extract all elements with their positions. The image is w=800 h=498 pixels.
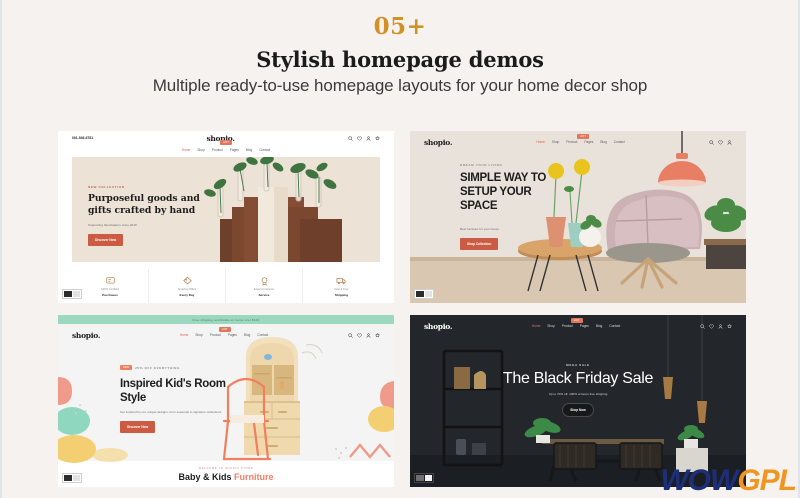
nav-item-product[interactable]: Product (212, 148, 223, 152)
watermark-gpl: GPL (737, 464, 796, 497)
nav-item-blog[interactable]: Blog (246, 148, 252, 152)
demo-1-nav-badge: HOT (220, 140, 232, 145)
demo-3-lede: Get inspired by our unique designs, from… (120, 410, 228, 414)
demo-3-brand[interactable]: shopio. (72, 331, 100, 340)
demo-3-viewport: Free shipping worldwide on items over $1… (58, 315, 394, 487)
demo-4-nav-links[interactable]: Home Shop Product Pages Blog Contact (532, 324, 620, 328)
nav-item-pages[interactable]: Pages (580, 324, 589, 328)
section-header: 05+ Stylish homepage demos Multiple read… (2, 0, 798, 96)
toggle-left[interactable] (64, 475, 72, 481)
cart-icon[interactable] (727, 324, 732, 329)
demo-4-viewport: shopio. HOT Home Shop Product Pages Blog… (410, 315, 746, 487)
demo-1-kicker: NEW COLLECTION (88, 185, 203, 189)
heart-icon[interactable] (709, 324, 714, 329)
demo-1-nav[interactable]: HOT Home Shop Product Pages Blog Contact (58, 145, 394, 155)
demo-2-kicker: DREAM YOUR LIVING (460, 163, 570, 167)
page-title: Stylish homepage demos (2, 47, 798, 72)
heart-icon[interactable] (718, 140, 723, 145)
feature-line2: Service (258, 293, 269, 297)
toggle-right[interactable] (73, 475, 81, 481)
demo-4-mini-site: shopio. HOT Home Shop Product Pages Blog… (410, 315, 746, 487)
demo-card-4[interactable]: shopio. HOT Home Shop Product Pages Blog… (410, 315, 746, 487)
demo-card-1[interactable]: 001-546-6781 shopio. (58, 131, 394, 303)
nav-item-product[interactable]: Product (210, 333, 221, 337)
nav-item-shop[interactable]: Shop (552, 140, 559, 144)
tag-icon (181, 275, 194, 286)
badge-icon (258, 275, 271, 286)
demo-2-brand[interactable]: shopio. (424, 138, 452, 147)
toggle-right[interactable] (425, 475, 433, 481)
feature-item: Expert Customer Service (226, 269, 303, 303)
demo-1-heading: Purposeful goods and gifts crafted by ha… (88, 193, 203, 218)
demo-4-navbar: shopio. HOT Home Shop Product Pages Blog… (410, 315, 746, 337)
feature-item: Amazing Offers Every Day (149, 269, 226, 303)
demo-2-viewport: shopio. HOT Home Shop Product Pages Blog… (410, 131, 746, 303)
demo-1-feature-strip: 100% Certified Purchases Amazing Offers … (58, 269, 394, 303)
demo-3-kicker-row: NEW 25% off everything (120, 365, 180, 370)
demo-4-nav-badge: HOT (571, 318, 583, 323)
demo-3-kicker: 25% off everything (135, 366, 180, 370)
demo-1-phone: 001-546-6781 (72, 136, 93, 140)
demo-card-2[interactable]: shopio. HOT Home Shop Product Pages Blog… (410, 131, 746, 303)
user-icon[interactable] (727, 140, 732, 145)
demo-2-heading: SIMPLE WAY TO SETUP YOUR SPACE (460, 171, 570, 213)
search-icon[interactable] (709, 140, 714, 145)
search-icon[interactable] (700, 324, 705, 329)
nav-item-blog[interactable]: Blog (244, 333, 250, 337)
demo-1-hero: NEW COLLECTION Purposeful goods and gift… (72, 157, 380, 262)
demo-2-nav-badge: HOT (577, 134, 589, 139)
nav-item-shop[interactable]: Shop (195, 333, 202, 337)
nav-item-blog[interactable]: Blog (600, 140, 606, 144)
feature-line2: Purchases (102, 293, 118, 297)
demo-grid: 001-546-6781 shopio. (58, 131, 746, 487)
demo-3-nav[interactable]: HOT Home Shop Product Pages Blog Contact (180, 333, 268, 337)
nav-item-product[interactable]: Product (566, 140, 577, 144)
nav-item-blog[interactable]: Blog (596, 324, 602, 328)
demo-4-kicker: MEGA SALE (410, 363, 746, 367)
demo-3-mini-site: Free shipping worldwide on items over $1… (58, 315, 394, 487)
user-icon[interactable] (366, 333, 371, 338)
demo-4-brand[interactable]: shopio. (424, 322, 452, 331)
nav-item-home[interactable]: Home (532, 324, 541, 328)
demo-card-3[interactable]: Free shipping worldwide on items over $1… (58, 315, 394, 487)
nav-item-home[interactable]: Home (182, 148, 191, 152)
nav-item-pages[interactable]: Pages (228, 333, 237, 337)
heart-icon[interactable] (357, 333, 362, 338)
demo-1-lede: Supporting handmakers since 2018 (88, 223, 203, 227)
feature-line1: 100% Certified (101, 288, 119, 291)
demo-3-navbar: shopio. HOT Home Shop Product Pages Blog… (58, 324, 394, 346)
demo-1-cta-button[interactable]: Discover Now (88, 234, 123, 246)
demo-1-hero-copy: NEW COLLECTION Purposeful goods and gift… (88, 185, 203, 246)
demo-2-cta-button[interactable]: Shop Collection (460, 238, 498, 250)
nav-item-home[interactable]: Home (180, 333, 189, 337)
search-icon[interactable] (348, 333, 353, 338)
demo-4-icon-group[interactable] (700, 324, 732, 329)
demo-2-lede: Best furniture for your house (460, 227, 570, 231)
nav-item-pages[interactable]: Pages (584, 140, 593, 144)
nav-item-product[interactable]: Product (562, 324, 573, 328)
toggle-left[interactable] (416, 475, 424, 481)
toggle-right[interactable] (73, 291, 81, 297)
user-icon[interactable] (718, 324, 723, 329)
search-icon[interactable] (348, 136, 353, 141)
nav-item-contact[interactable]: Contact (609, 324, 620, 328)
truck-icon (335, 275, 348, 286)
feature-line1: Fast & Free (334, 288, 348, 291)
demo-4-heading: The Black Friday Sale (410, 370, 746, 389)
toggle-left[interactable] (416, 291, 424, 297)
demo-2-icon-group[interactable] (709, 140, 732, 145)
user-icon[interactable] (366, 136, 371, 141)
demo-1-icon-group[interactable] (348, 136, 380, 141)
demo-4-lede: Up to 70% off. 100% of items free shippi… (410, 392, 746, 396)
demo-2-hero-copy: DREAM YOUR LIVING SIMPLE WAY TO SETUP YO… (460, 163, 570, 250)
cart-icon[interactable] (375, 333, 380, 338)
feature-item: 100% Certified Purchases (72, 269, 149, 303)
nav-item-shop[interactable]: Shop (547, 324, 554, 328)
demo-1-layout-toggle[interactable] (62, 289, 82, 299)
demo-3-layout-toggle[interactable] (62, 473, 82, 483)
nav-item-contact[interactable]: Contact (614, 140, 625, 144)
wowgpl-watermark: WOWGPL (660, 466, 796, 496)
demo-2-nav[interactable]: HOT Home Shop Product Pages Blog Contact (536, 140, 624, 144)
feature-line1: Expert Customer (254, 288, 274, 291)
demo-3-cta-button[interactable]: Discover Now (120, 421, 155, 433)
feature-line1: Amazing Offers (178, 288, 196, 291)
demo-1-viewport: 001-546-6781 shopio. (58, 131, 394, 303)
demo-4-hero-copy: MEGA SALE The Black Friday Sale Up to 70… (410, 363, 746, 417)
demo-1-nav-links[interactable]: Home Shop Product Pages Blog Contact (182, 148, 270, 152)
toggle-right[interactable] (425, 291, 433, 297)
cart-icon[interactable] (375, 136, 380, 141)
demo-3-nav-badge: HOT (219, 327, 231, 332)
feature-item: Fast & Free Shipping (303, 269, 380, 303)
demo-1-mini-site: 001-546-6781 shopio. (58, 131, 394, 303)
toggle-left[interactable] (64, 291, 72, 297)
eyebrow-count: 05+ (2, 14, 798, 39)
nav-item-home[interactable]: Home (536, 140, 545, 144)
nav-item-shop[interactable]: Shop (197, 148, 204, 152)
heart-icon[interactable] (357, 136, 362, 141)
demo-3-heading: Inspired Kid's Room Style (120, 377, 228, 405)
demo-4-layout-toggle[interactable] (414, 473, 434, 483)
demo-3-nav-links[interactable]: Home Shop Product Pages Blog Contact (180, 333, 268, 337)
demo-3-icon-group[interactable] (348, 333, 380, 338)
nav-item-contact[interactable]: Contact (259, 148, 270, 152)
demo-2-navbar: shopio. HOT Home Shop Product Pages Blog… (410, 131, 746, 153)
feature-line2: Shipping (335, 293, 348, 297)
page-root: 05+ Stylish homepage demos Multiple read… (0, 0, 800, 498)
demo-4-cta-button[interactable]: Shop Now (562, 403, 594, 417)
feature-line2: Every Day (180, 293, 195, 297)
demo-2-layout-toggle[interactable] (414, 289, 434, 299)
demo-3-hero-copy: NEW 25% off everything Inspired Kid's Ro… (120, 355, 228, 433)
demo-4-nav[interactable]: HOT Home Shop Product Pages Blog Contact (532, 324, 620, 328)
demo-2-nav-links[interactable]: Home Shop Product Pages Blog Contact (536, 140, 624, 144)
certificate-icon (104, 275, 117, 286)
watermark-wow: WOW (660, 464, 737, 497)
nav-item-pages[interactable]: Pages (230, 148, 239, 152)
demo-2-mini-site: shopio. HOT Home Shop Product Pages Blog… (410, 131, 746, 303)
nav-item-contact[interactable]: Contact (257, 333, 268, 337)
demo-3-kicker-badge: NEW (120, 365, 132, 370)
page-subtitle: Multiple ready-to-use homepage layouts f… (2, 76, 798, 96)
